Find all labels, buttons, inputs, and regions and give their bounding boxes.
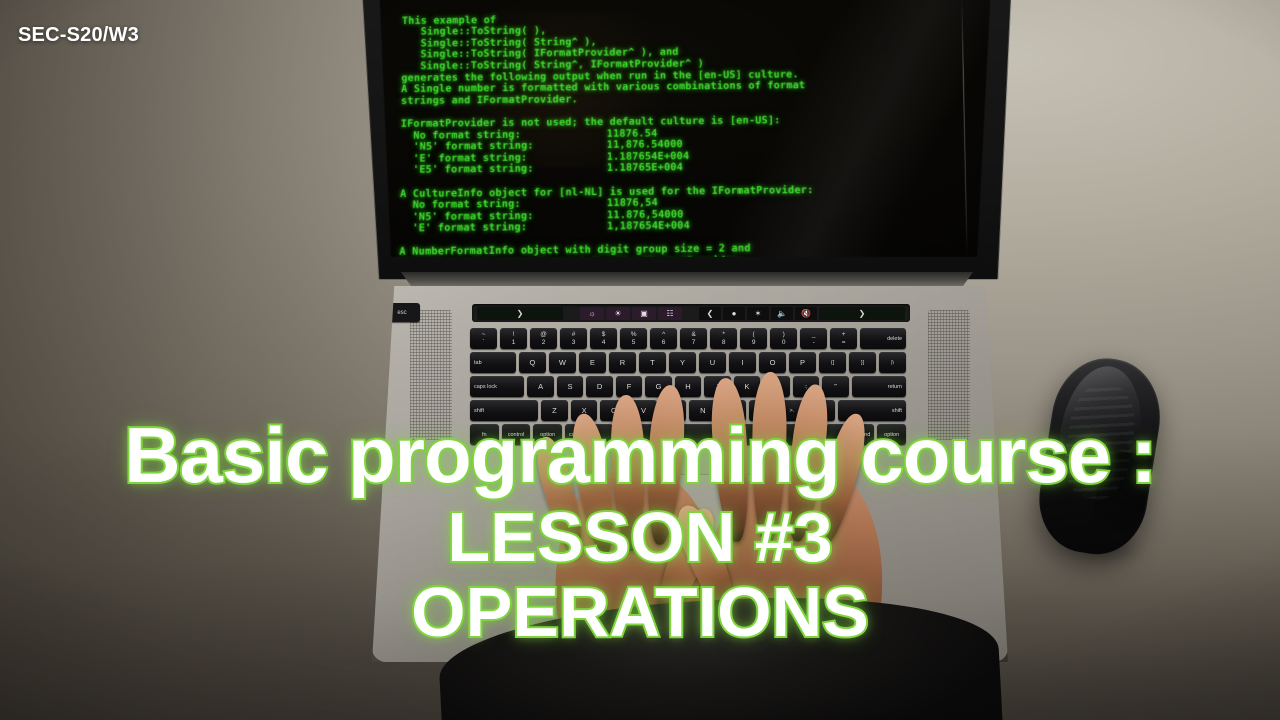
title-line-1: Basic programming course : xyxy=(0,416,1280,496)
title-block: Basic programming course : LESSON #3 OPE… xyxy=(0,416,1280,648)
title-line-3: OPERATIONS xyxy=(0,577,1280,648)
title-line-2: LESSON #3 xyxy=(0,502,1280,573)
corner-label: SEC-S20/W3 xyxy=(18,24,139,47)
slide-canvas: This example of Single::ToString( ), Sin… xyxy=(0,0,1280,720)
